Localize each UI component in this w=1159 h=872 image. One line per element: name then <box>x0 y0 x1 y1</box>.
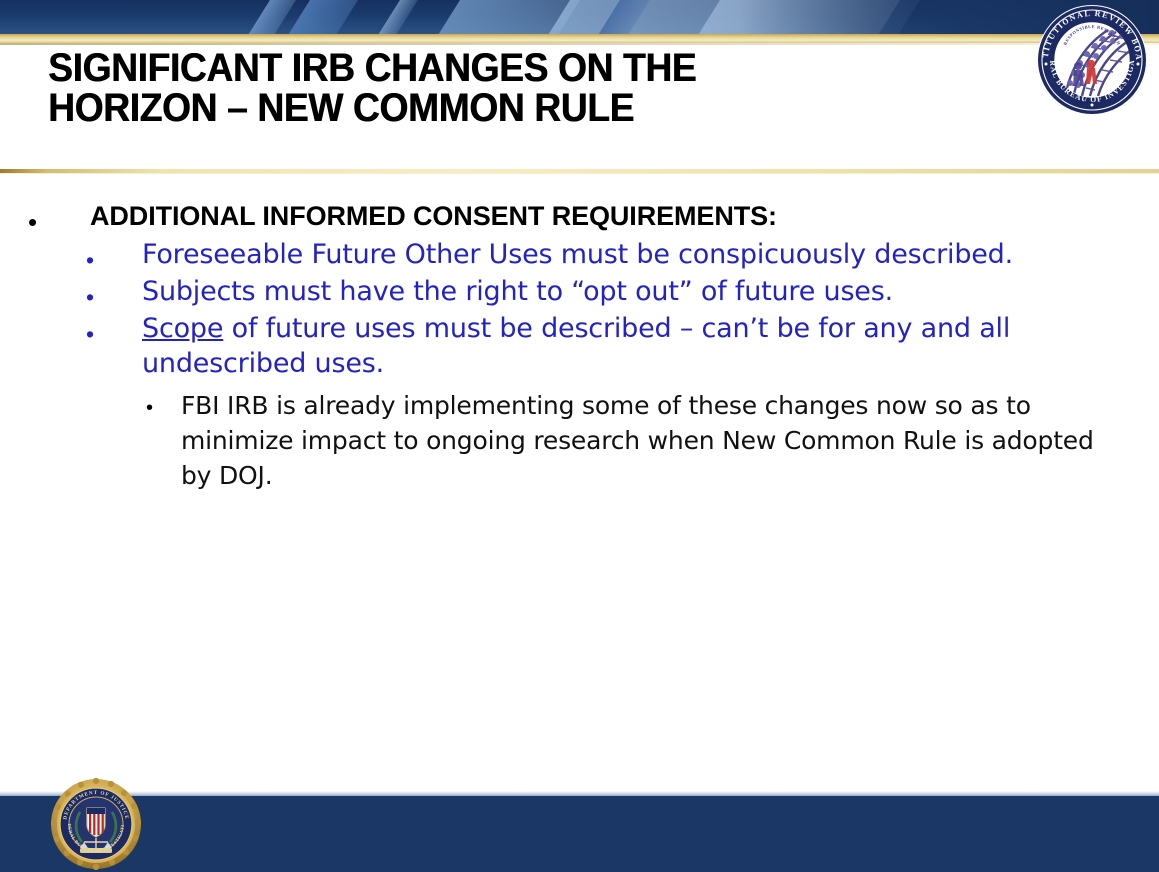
bullet-marker-icon: • <box>28 199 90 235</box>
bullet-level2-text: Foreseeable Future Other Uses must be co… <box>142 237 1159 272</box>
bullet-level2: • Scope of future uses must be described… <box>86 311 1159 381</box>
presentation-slide: SIGNIFICANT IRB CHANGES ON THE HORIZON –… <box>0 0 1159 872</box>
header-swoosh-2 <box>210 0 395 34</box>
bullet-level2-rest: of future uses must be described – can’t… <box>142 313 1010 379</box>
page-title: SIGNIFICANT IRB CHANGES ON THE HORIZON –… <box>48 48 848 128</box>
bullet-level2: • Foreseeable Future Other Uses must be … <box>86 237 1159 272</box>
title-area: SIGNIFICANT IRB CHANGES ON THE HORIZON –… <box>0 45 1159 170</box>
bullet-level1-text: ADDITIONAL INFORMED CONSENT REQUIREMENTS… <box>90 199 1159 233</box>
bullet-level3-text: FBI IRB is already implementing some of … <box>181 388 1096 493</box>
bullet-marker-icon: • <box>86 311 142 346</box>
footer-band: 19 <box>0 796 1159 872</box>
bullet-level2-text: Subjects must have the right to “opt out… <box>142 274 1159 309</box>
header-decorative-band <box>0 0 1159 34</box>
bullet-emphasis-scope: Scope <box>142 313 223 344</box>
bullet-level1: • ADDITIONAL INFORMED CONSENT REQUIREMEN… <box>28 199 1159 235</box>
bullet-marker-icon: • <box>146 388 181 418</box>
bullet-level2-text: Scope of future uses must be described –… <box>142 311 1159 381</box>
bullet-marker-icon: • <box>86 237 142 272</box>
slide-body: • ADDITIONAL INFORMED CONSENT REQUIREMEN… <box>0 178 1159 790</box>
bullet-marker-icon: • <box>86 274 142 309</box>
title-divider-highlight <box>0 173 1159 174</box>
fbi-seal-icon: DEPARTMENT OF JUSTICE FEDERAL BUREAU OF … <box>50 778 142 870</box>
header-gold-bar <box>0 34 1159 43</box>
bullet-level2: • Subjects must have the right to “opt o… <box>86 274 1159 309</box>
fbi-irb-seal-icon: INSTITUTIONAL REVIEW BOARD FEDERAL BUREA… <box>1036 4 1148 116</box>
bullet-level3: • FBI IRB is already implementing some o… <box>146 388 1159 493</box>
